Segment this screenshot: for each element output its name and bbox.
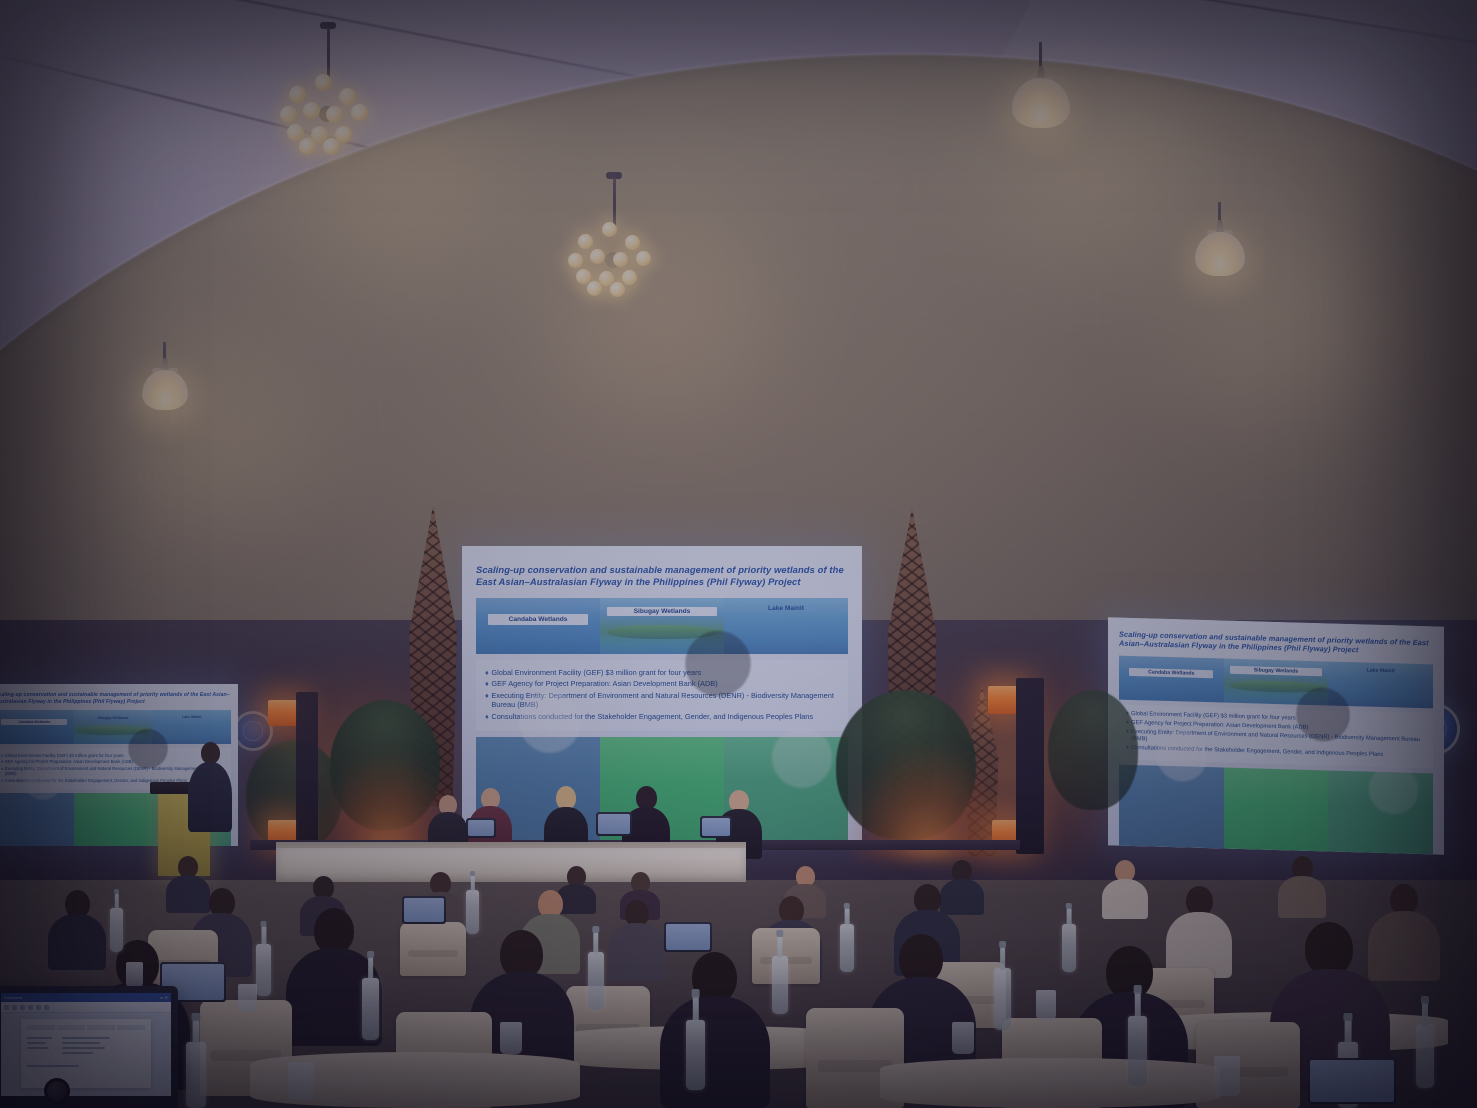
document-tab[interactable] [87, 1025, 115, 1030]
document-text-line [62, 1042, 100, 1044]
chandelier-bulb-cluster [281, 76, 373, 152]
pendant-dome [142, 370, 188, 410]
water-bottle[interactable] [686, 1020, 705, 1090]
speaker-torso [188, 762, 232, 832]
podium-speaker [188, 742, 232, 850]
document-page [21, 1019, 150, 1088]
speaker-tower-left [296, 692, 318, 842]
chandelier-bulb [578, 234, 593, 249]
pendant-dome [1012, 78, 1070, 128]
chandelier-bulb [351, 104, 368, 121]
water-bottle[interactable] [362, 978, 379, 1040]
panel-laptop-right[interactable] [700, 816, 732, 838]
chandelier-bulb [625, 235, 640, 250]
pendant-lamp-right-upper [1012, 78, 1070, 128]
chandelier-bulb [280, 106, 297, 123]
water-bottle[interactable] [1062, 924, 1076, 972]
document-tab[interactable] [27, 1025, 55, 1030]
round-table [880, 1058, 1220, 1108]
audience-member-foreground [660, 952, 770, 1102]
chandelier-bulb [587, 281, 602, 296]
document-ribbon[interactable] [1, 1002, 171, 1013]
chandelier-bulb [590, 249, 605, 264]
ribbon-icon[interactable] [4, 1005, 9, 1010]
document-tab[interactable] [117, 1025, 145, 1030]
chandelier-bulb [299, 138, 316, 155]
chandelier-bulb [315, 74, 332, 91]
chandelier-bulb [323, 138, 340, 155]
water-bottle[interactable] [186, 1042, 206, 1108]
water-bottle[interactable] [772, 956, 788, 1014]
laptop-bezel: Document ▭ ✕ [0, 986, 178, 1108]
ribbon-icon[interactable] [44, 1005, 49, 1010]
speaker-head [201, 742, 220, 764]
audience-laptop[interactable] [1308, 1058, 1396, 1104]
tumbler[interactable] [952, 1022, 974, 1054]
chandelier-bulb [289, 86, 306, 103]
water-bottle[interactable] [466, 890, 479, 934]
document-text-line [27, 1042, 46, 1044]
conference-hall-scene: Scaling-up conservation and sustainable … [0, 0, 1477, 1108]
tumbler[interactable] [1214, 1056, 1240, 1096]
chandelier-bulb [636, 251, 651, 266]
document-text-line [27, 1037, 51, 1039]
tumbler[interactable] [126, 962, 143, 988]
panel-laptop-center[interactable] [596, 812, 632, 836]
audience-laptop[interactable] [664, 922, 712, 952]
foreground-laptop[interactable]: Document ▭ ✕ [0, 986, 178, 1108]
tumbler[interactable] [1036, 990, 1056, 1020]
water-bottle[interactable] [256, 944, 271, 996]
chandelier-bulb [339, 88, 356, 105]
document-text-line [27, 1065, 79, 1067]
water-bottle[interactable] [994, 968, 1011, 1030]
wall-medallion-left [236, 714, 270, 748]
water-bottle[interactable] [110, 908, 123, 952]
water-bottle[interactable] [840, 924, 854, 972]
document-text-line [62, 1037, 110, 1039]
document-titlebar: Document ▭ ✕ [1, 993, 171, 1002]
tumbler[interactable] [500, 1022, 522, 1054]
chandelier-bulb [622, 270, 637, 285]
chandelier-bulb [287, 124, 304, 141]
water-bottle[interactable] [1128, 1016, 1147, 1086]
chandelier-bulb [610, 282, 625, 297]
chandelier-bulb [602, 222, 617, 237]
panel-laptop-left[interactable] [466, 818, 496, 838]
audience-tablet[interactable] [402, 896, 446, 924]
chandelier-bulb [613, 252, 628, 267]
ribbon-icon[interactable] [12, 1005, 17, 1010]
right-projection-screen[interactable]: Scaling-up conservation and sustainable … [1108, 617, 1444, 854]
audience-member [608, 900, 666, 978]
document-text-line [62, 1047, 105, 1049]
bottom-photo-3 [1328, 770, 1433, 854]
chandelier-bulb [326, 106, 343, 123]
tumbler[interactable] [288, 1062, 314, 1100]
palm-arrangement-far-right [1048, 690, 1138, 810]
water-bottle[interactable] [588, 952, 604, 1010]
pendant-lamp-right-lower [1195, 232, 1245, 276]
document-tab-row[interactable] [27, 1025, 144, 1030]
audience-member [1102, 860, 1148, 916]
document-tab[interactable] [57, 1025, 85, 1030]
window-controls[interactable]: ▭ ✕ [160, 995, 168, 1000]
panel-table [276, 848, 746, 882]
webcam-cover-icon [44, 1078, 70, 1104]
chandelier-bulb-cluster [570, 224, 656, 296]
ribbon-icon[interactable] [36, 1005, 41, 1010]
chandelier-stem [613, 178, 616, 228]
right-bottom-photo-strip [1119, 765, 1433, 855]
audience-member [1278, 856, 1326, 914]
pendant-lamp-left [142, 370, 188, 410]
stage-light-left-a [268, 700, 298, 726]
water-bottle[interactable] [1416, 1024, 1434, 1088]
banquet-chair[interactable] [400, 922, 466, 976]
document-text-line [27, 1047, 48, 1049]
chandelier-stem [327, 28, 330, 80]
tumbler[interactable] [238, 984, 257, 1012]
document-title: Document [4, 995, 22, 1000]
pendant-dome [1195, 232, 1245, 276]
chandelier-bulb [303, 102, 320, 119]
document-text-line [62, 1052, 93, 1054]
chandelier-bulb [568, 253, 583, 268]
ribbon-icon[interactable] [20, 1005, 25, 1010]
speaker-tower-right [1016, 678, 1044, 854]
ribbon-icon[interactable] [28, 1005, 33, 1010]
laptop-screen[interactable]: Document ▭ ✕ [1, 993, 171, 1096]
